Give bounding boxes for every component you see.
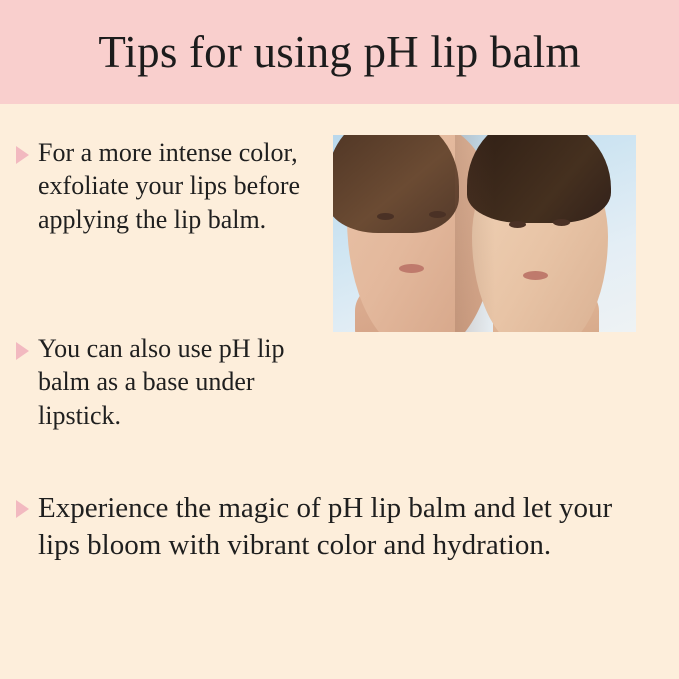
tips-infographic-page: Tips for using pH lip balm For a more in… [0, 0, 679, 679]
header-band: Tips for using pH lip balm [0, 0, 679, 104]
two-women-faces-photo [333, 135, 636, 332]
photo-hair-left [333, 135, 459, 233]
list-item: Experience the magic of pH lip balm and … [16, 490, 636, 564]
list-item: You can also use pH lip balm as a base u… [16, 332, 328, 432]
photo-eye-right-1 [509, 221, 526, 228]
triangle-bullet-icon [16, 342, 29, 360]
content-area: For a more intense color, exfoliate your… [0, 104, 679, 679]
bullet-text: Experience the magic of pH lip balm and … [38, 490, 636, 564]
bullet-text: For a more intense color, exfoliate your… [38, 136, 326, 236]
photo-eye-left-2 [429, 211, 446, 218]
triangle-bullet-icon [16, 500, 29, 518]
photo-lips-right [523, 271, 548, 280]
bullet-text: You can also use pH lip balm as a base u… [38, 332, 328, 432]
list-item: For a more intense color, exfoliate your… [16, 136, 326, 236]
page-title: Tips for using pH lip balm [0, 0, 679, 104]
photo-lips-left [399, 264, 424, 273]
photo-eye-right-2 [553, 219, 570, 226]
photo-eye-left-1 [377, 213, 394, 220]
photo-shadow [455, 135, 495, 332]
triangle-bullet-icon [16, 146, 29, 164]
